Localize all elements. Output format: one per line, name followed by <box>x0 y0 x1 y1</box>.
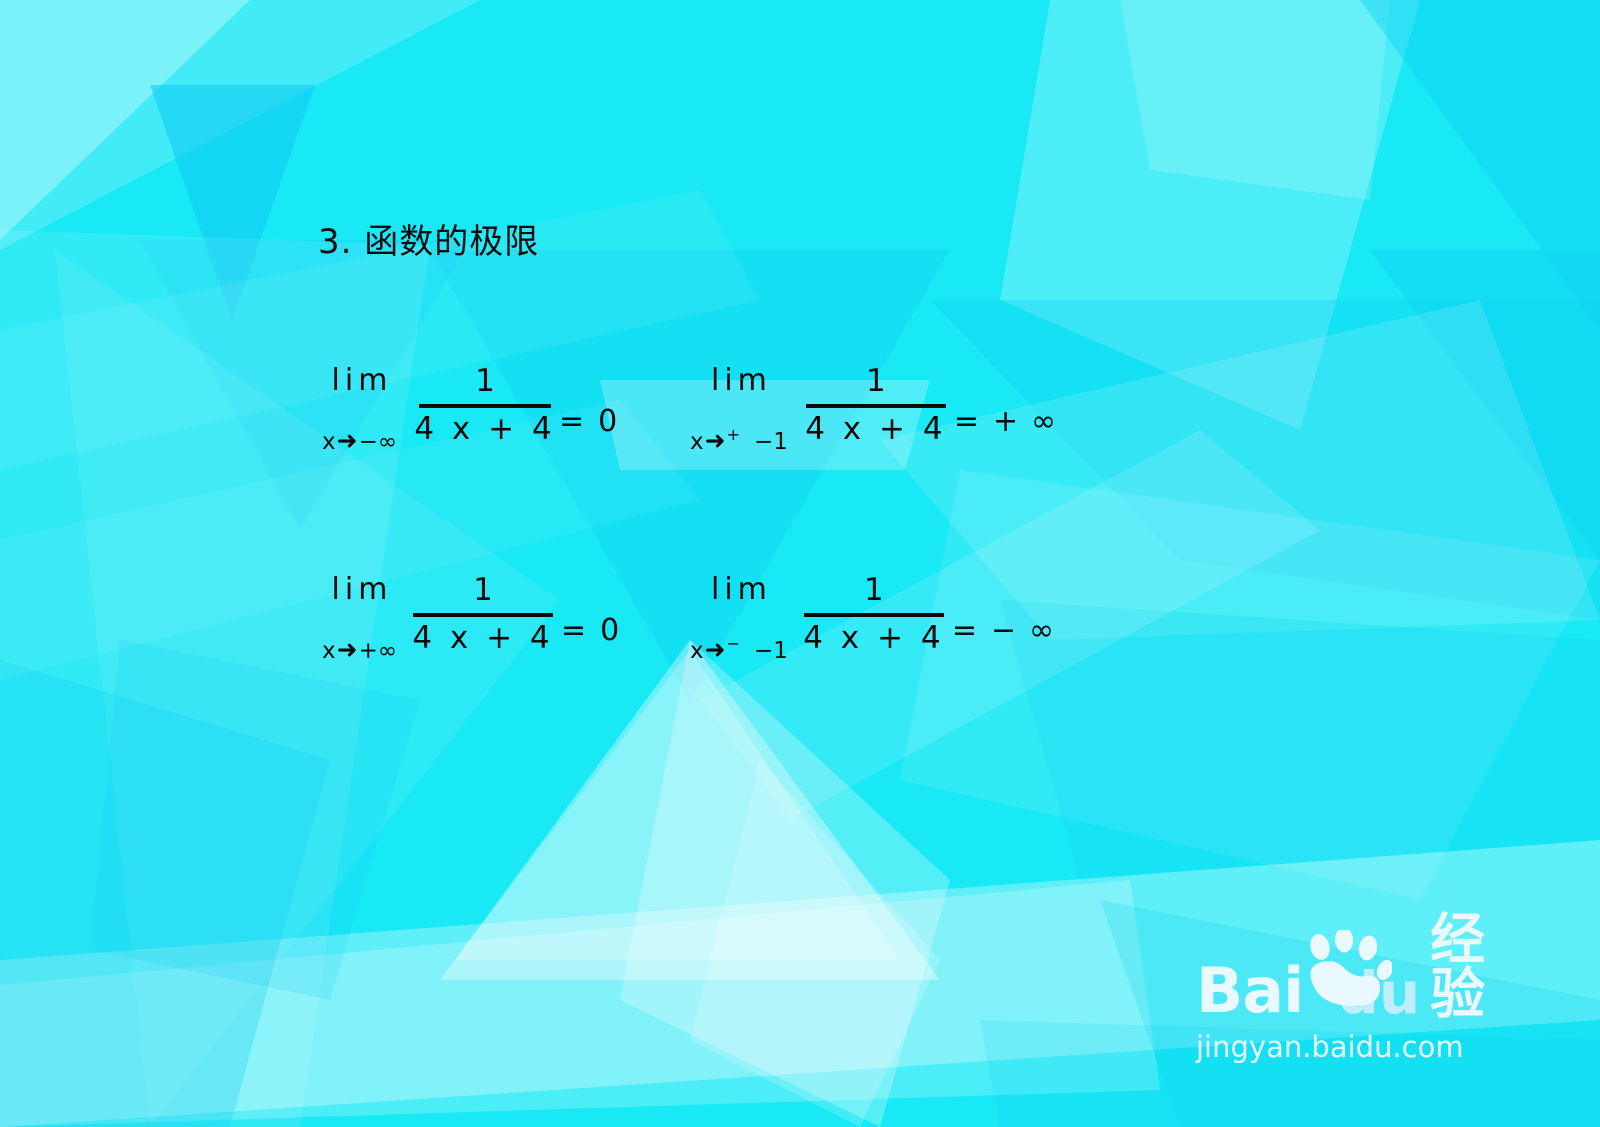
equals-sign: = <box>952 613 977 648</box>
limit-subscript: x ➜ −∞ <box>322 428 397 454</box>
fraction-numerator: 1 <box>866 366 886 404</box>
baidu-watermark: Bai du 经验 jingyan.baidu.com <box>1196 944 1496 1072</box>
result-value: 0 <box>598 404 617 439</box>
limit-side-superscript: + <box>727 427 740 443</box>
equation-result: = 0 <box>559 404 617 439</box>
result-sign: − <box>991 613 1016 648</box>
limit-subscript: x ➜ − −1 <box>690 637 788 663</box>
limit-variable: x <box>690 431 704 454</box>
limit-operator: lim x ➜ +∞ <box>322 575 397 663</box>
result-value: ∞ <box>1031 404 1056 439</box>
equals-sign: = <box>954 404 979 439</box>
equals-sign: = <box>561 613 586 648</box>
arrow-right-icon: ➜ <box>337 637 358 662</box>
lim-label: lim <box>706 366 772 396</box>
formula-limit-x-to-neg-one-from-left: lim x ➜ − −1 1 4 x + 4 = − ∞ <box>690 575 1054 663</box>
slide-content: 3. 函数的极限 lim x ➜ −∞ 1 4 x + 4 = 0 <box>0 0 1600 1127</box>
fraction-numerator: 1 <box>864 575 884 613</box>
baidu-brand-jingyan: 经验 <box>1430 912 1496 1022</box>
fraction-denominator: 4 x + 4 <box>412 617 553 654</box>
limit-variable: x <box>690 640 704 663</box>
fraction-numerator: 1 <box>473 575 493 613</box>
limit-operator: lim x ➜ − −1 <box>690 575 788 663</box>
equation-result: = + ∞ <box>954 404 1056 439</box>
lim-label: lim <box>327 366 393 396</box>
fraction-numerator: 1 <box>475 366 495 404</box>
baidu-brand-bai: Bai <box>1196 960 1303 1022</box>
arrow-right-icon: ➜ <box>337 428 358 453</box>
result-sign: + <box>993 404 1018 439</box>
result-value: ∞ <box>1029 613 1054 648</box>
equals-sign: = <box>559 404 584 439</box>
fraction: 1 4 x + 4 <box>419 366 551 445</box>
limit-variable: x <box>322 640 336 663</box>
fraction: 1 4 x + 4 <box>804 575 944 654</box>
baidu-logo: Bai du 经验 <box>1196 944 1496 1022</box>
formula-limit-x-to-neg-infinity: lim x ➜ −∞ 1 4 x + 4 = 0 <box>322 366 617 454</box>
formula-limit-x-to-neg-one-from-right: lim x ➜ + −1 1 4 x + 4 = + ∞ <box>690 366 1056 454</box>
limit-subscript: x ➜ + −1 <box>690 428 788 454</box>
fraction-denominator: 4 x + 4 <box>803 617 944 654</box>
limit-side-superscript: − <box>727 636 740 652</box>
arrow-right-icon: ➜ <box>705 637 726 662</box>
equation-result: = − ∞ <box>952 613 1054 648</box>
formula-limit-x-to-pos-infinity: lim x ➜ +∞ 1 4 x + 4 = 0 <box>322 575 619 663</box>
limit-approach-value: −∞ <box>359 431 397 454</box>
page-title: 3. 函数的极限 <box>318 224 539 261</box>
lim-label: lim <box>327 575 393 605</box>
baidu-url: jingyan.baidu.com <box>1196 1030 1496 1064</box>
result-value: 0 <box>600 613 619 648</box>
limit-subscript: x ➜ +∞ <box>322 637 397 663</box>
paw-print-icon <box>1300 930 1392 1006</box>
limit-approach-value: +∞ <box>359 640 397 663</box>
fraction-denominator: 4 x + 4 <box>414 408 555 445</box>
slide-canvas: 3. 函数的极限 lim x ➜ −∞ 1 4 x + 4 = 0 <box>0 0 1600 1127</box>
lim-label: lim <box>706 575 772 605</box>
fraction-denominator: 4 x + 4 <box>805 408 946 445</box>
fraction: 1 4 x + 4 <box>806 366 946 445</box>
limit-approach-value: −1 <box>754 431 788 454</box>
limit-variable: x <box>322 431 336 454</box>
limit-operator: lim x ➜ + −1 <box>690 366 788 454</box>
limit-operator: lim x ➜ −∞ <box>322 366 397 454</box>
equation-result: = 0 <box>561 613 619 648</box>
limit-approach-value: −1 <box>754 640 788 663</box>
arrow-right-icon: ➜ <box>705 428 726 453</box>
fraction: 1 4 x + 4 <box>413 575 553 654</box>
